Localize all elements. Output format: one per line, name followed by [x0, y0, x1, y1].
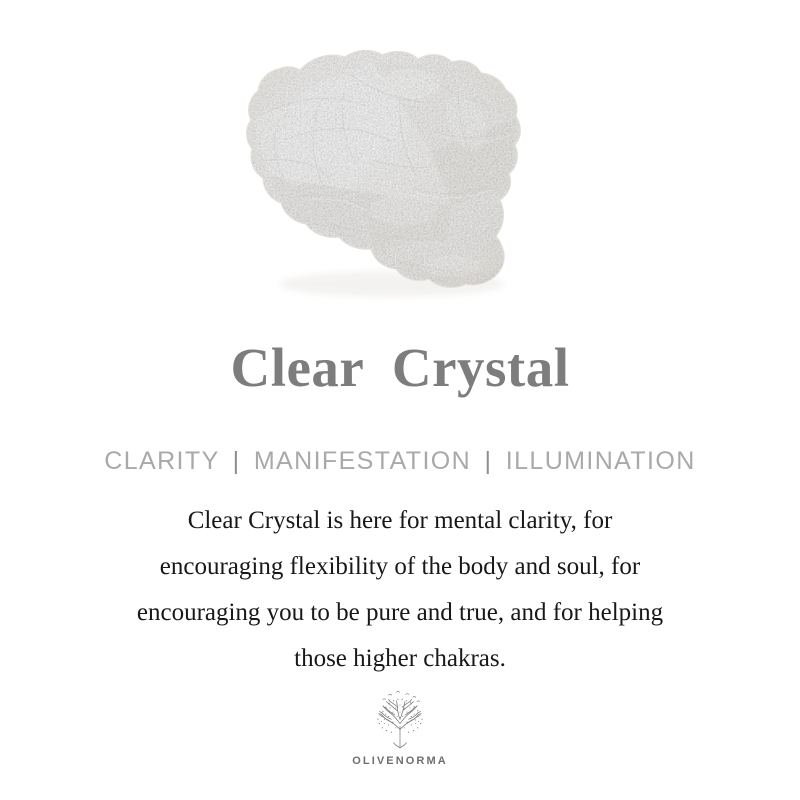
product-description: Clear Crystal is here for mental clarity…	[30, 498, 770, 682]
keyword-separator: |	[479, 447, 497, 475]
description-line: encouraging you to be pure and true, and…	[30, 590, 770, 636]
keyword-separator: |	[228, 447, 246, 475]
description-line: encouraging flexibility of the body and …	[30, 544, 770, 590]
description-line: Clear Crystal is here for mental clarity…	[30, 498, 770, 544]
keyword-clarity: CLARITY	[104, 447, 219, 475]
brand-logo: OLIVENORMA	[0, 688, 800, 767]
tree-icon	[364, 688, 436, 752]
crystal-image	[0, 0, 800, 320]
keyword-manifestation: MANIFESTATION	[254, 447, 471, 475]
keyword-illumination: ILLUMINATION	[506, 447, 696, 475]
birds-icon	[383, 691, 420, 701]
description-line: those higher chakras.	[30, 636, 770, 682]
crystal-body	[230, 36, 550, 310]
keyword-list: CLARITY | MANIFESTATION | ILLUMINATION	[0, 444, 800, 478]
crystal-illustration	[0, 0, 800, 320]
product-info-card: Clear Crystal CLARITY | MANIFESTATION | …	[0, 0, 800, 800]
brand-name: OLIVENORMA	[352, 755, 448, 767]
page-title: Clear Crystal	[0, 336, 800, 400]
